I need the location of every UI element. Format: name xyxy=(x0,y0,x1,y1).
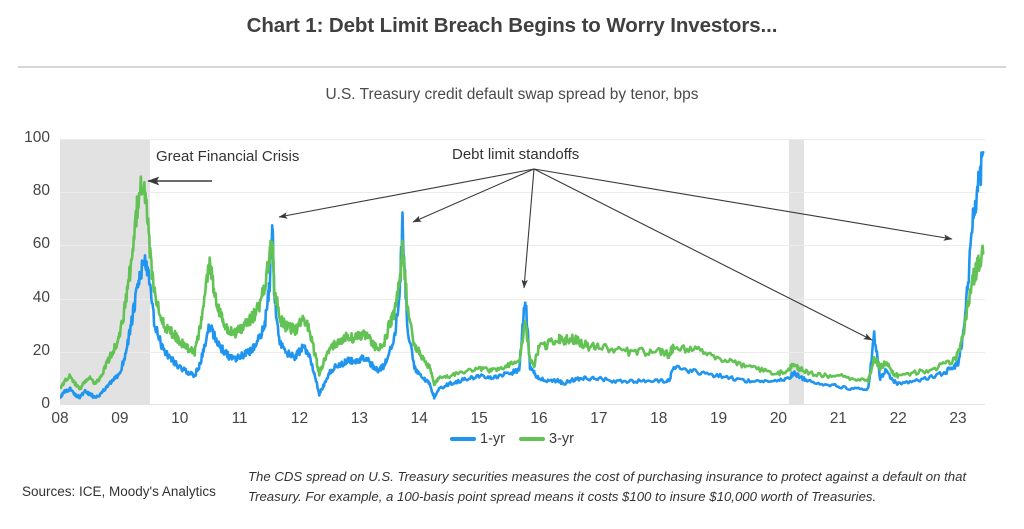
chart-legend: 1-yr 3-yr xyxy=(0,431,1024,447)
x-tick-label-11: 11 xyxy=(220,410,260,428)
y-tick-label-20: 20 xyxy=(4,342,50,360)
line-series-3-yr xyxy=(60,177,983,390)
x-tick-label-21: 21 xyxy=(818,410,858,428)
x-tick-label-13: 13 xyxy=(339,410,379,428)
chart-card: Chart 1: Debt Limit Breach Begins to Wor… xyxy=(0,0,1024,529)
x-tick-label-19: 19 xyxy=(699,410,739,428)
annotation-debt-limit-standoffs: Debt limit standoffs xyxy=(452,146,579,163)
y-tick-label-100: 100 xyxy=(4,129,50,147)
plot-wrapper: 020406080100 080910111213141516171819202… xyxy=(0,0,1024,529)
footnote-text: The CDS spread on U.S. Treasury securiti… xyxy=(248,467,1008,506)
x-tick-label-14: 14 xyxy=(399,410,439,428)
line-series-1-yr xyxy=(60,152,983,398)
x-tick-label-08: 08 xyxy=(40,410,80,428)
annotation-great-financial-crisis: Great Financial Crisis xyxy=(156,148,299,165)
series-lines xyxy=(60,139,985,405)
legend-item-3yr[interactable]: 3-yr xyxy=(519,431,574,447)
x-tick-label-23: 23 xyxy=(938,410,978,428)
legend-label-3yr: 3-yr xyxy=(549,431,574,447)
y-tick-label-40: 40 xyxy=(4,289,50,307)
x-tick-label-22: 22 xyxy=(878,410,918,428)
x-tick-label-12: 12 xyxy=(279,410,319,428)
plot-area xyxy=(60,139,985,405)
y-tick-label-60: 60 xyxy=(4,235,50,253)
x-tick-label-15: 15 xyxy=(459,410,499,428)
x-tick-label-20: 20 xyxy=(758,410,798,428)
x-tick-label-10: 10 xyxy=(160,410,200,428)
legend-item-1yr[interactable]: 1-yr xyxy=(450,431,505,447)
x-tick-label-09: 09 xyxy=(100,410,140,428)
x-tick-label-18: 18 xyxy=(639,410,679,428)
x-axis-line xyxy=(60,404,985,405)
x-tick-label-17: 17 xyxy=(579,410,619,428)
legend-swatch-1yr xyxy=(450,437,476,441)
legend-swatch-3yr xyxy=(519,437,545,441)
y-tick-label-80: 80 xyxy=(4,182,50,200)
sources-text: Sources: ICE, Moody's Analytics xyxy=(22,484,216,499)
x-tick-label-16: 16 xyxy=(519,410,559,428)
legend-label-1yr: 1-yr xyxy=(480,431,505,447)
